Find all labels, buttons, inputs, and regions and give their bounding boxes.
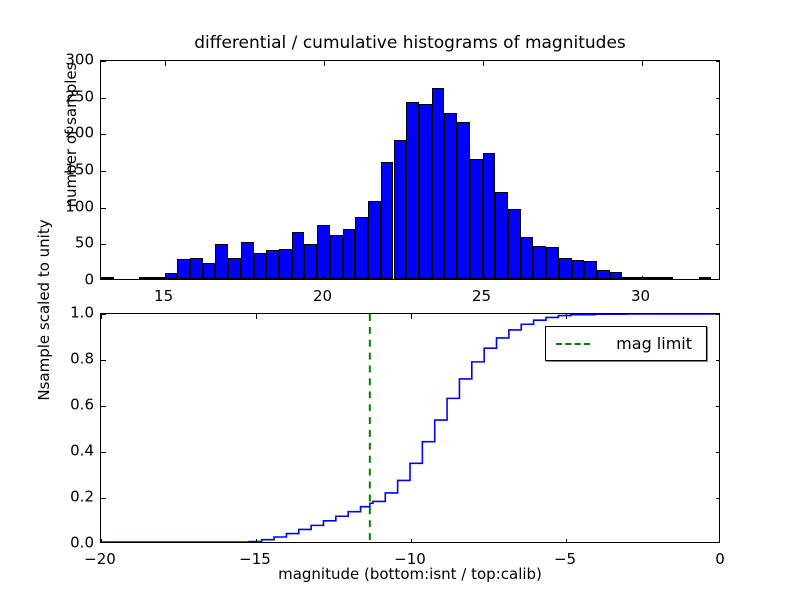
tick-mark [101, 134, 106, 135]
cumulative-histogram-axes: mag limit [100, 313, 720, 543]
tick-mark [716, 314, 719, 315]
tick-label: −15 [239, 552, 271, 567]
tick-label: 100 [52, 199, 94, 214]
tick-label: 300 [52, 53, 94, 68]
tick-mark [165, 61, 166, 66]
tick-mark [256, 314, 257, 319]
tick-mark [483, 276, 484, 279]
legend: mag limit [545, 326, 707, 361]
tick-mark [101, 98, 106, 99]
tick-mark [324, 276, 325, 279]
tick-mark [716, 208, 719, 209]
tick-mark [566, 539, 567, 542]
tick-mark [101, 406, 106, 407]
differential-histogram-axes [100, 60, 720, 280]
tick-label: 0 [52, 273, 94, 288]
tick-mark [101, 360, 106, 361]
tick-mark [101, 452, 106, 453]
tick-label: 50 [52, 236, 94, 251]
tick-mark [411, 539, 412, 542]
tick-mark [101, 244, 106, 245]
tick-mark [716, 498, 719, 499]
tick-mark [101, 171, 106, 172]
legend-item-label: mag limit [616, 334, 692, 353]
tick-mark [716, 61, 719, 62]
tick-label: 25 [472, 289, 491, 304]
tick-label: 0.0 [48, 536, 94, 551]
tick-mark [716, 98, 719, 99]
tick-label: 0 [715, 552, 725, 567]
tick-mark [716, 406, 719, 407]
tick-label: 0.2 [48, 490, 94, 505]
chart-title: differential / cumulative histograms of … [100, 33, 720, 53]
mag-limit-legend-swatch-icon [556, 343, 590, 345]
tick-label: 15 [154, 289, 173, 304]
tick-mark [101, 61, 106, 62]
tick-label: 0.6 [48, 398, 94, 413]
tick-label: 150 [52, 163, 94, 178]
tick-label: 250 [52, 89, 94, 104]
tick-label: 1.0 [48, 306, 94, 321]
tick-mark [256, 539, 257, 542]
tick-mark [165, 276, 166, 279]
tick-mark [642, 276, 643, 279]
tick-label: 20 [313, 289, 332, 304]
tick-mark [324, 61, 325, 66]
tick-label: −10 [394, 552, 426, 567]
tick-mark [566, 314, 567, 319]
tick-mark [716, 452, 719, 453]
tick-label: 30 [631, 289, 650, 304]
figure-canvas: differential / cumulative histograms of … [0, 0, 800, 600]
tick-mark [483, 61, 484, 66]
tick-mark [716, 360, 719, 361]
tick-mark [716, 171, 719, 172]
tick-label: −5 [554, 552, 576, 567]
tick-label: 0.4 [48, 444, 94, 459]
tick-mark [101, 314, 102, 319]
tick-mark [101, 208, 106, 209]
tick-mark [101, 498, 106, 499]
tick-mark [101, 539, 102, 542]
top-axes-ticks [101, 61, 719, 279]
tick-label: −20 [84, 552, 116, 567]
tick-mark [411, 314, 412, 319]
tick-mark [642, 61, 643, 66]
tick-label: 0.8 [48, 352, 94, 367]
tick-label: 200 [52, 126, 94, 141]
tick-mark [716, 134, 719, 135]
tick-mark [716, 244, 719, 245]
